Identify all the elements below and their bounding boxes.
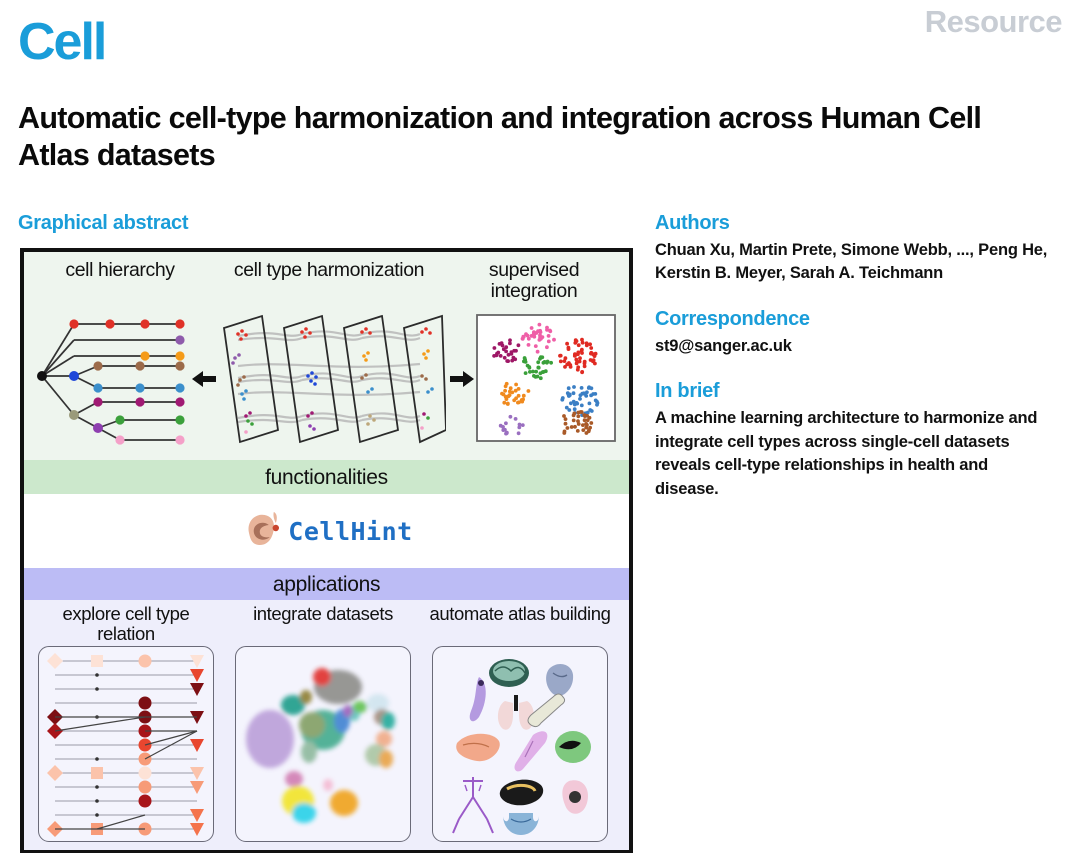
cellhint-blob-icon <box>240 508 286 554</box>
supervised-integration-scatter <box>476 314 616 442</box>
heart-icon <box>546 664 573 696</box>
page-title: Automatic cell-type harmonization and in… <box>18 100 1018 174</box>
liver-icon <box>456 734 500 761</box>
in-brief-block: In brief A machine learning architecture… <box>655 380 1055 501</box>
band-functionalities: functionalities <box>24 460 629 494</box>
bronchi-icon <box>453 777 493 833</box>
panel-title-supervised-integration: supervised integration <box>444 260 624 301</box>
graphical-abstract-figure: cell hierarchy cell type harmonization s… <box>20 248 633 853</box>
article-metadata-column: Authors Chuan Xu, Martin Prete, Simone W… <box>655 212 1055 523</box>
application-title: explore cell type relation <box>32 604 220 644</box>
application-title: automate atlas building <box>426 604 614 644</box>
pipeline-row: cell hierarchy cell type harmonization s… <box>24 252 629 460</box>
umap-clusters-icon <box>235 646 411 842</box>
organ-collage-icon <box>432 646 608 842</box>
panel-title-cell-type-harmonization: cell type harmonization <box>214 260 444 281</box>
applications-row: explore cell type relation integrate dat… <box>24 600 629 850</box>
intestine-icon <box>503 813 539 835</box>
article-type-label: Resource <box>925 4 1062 40</box>
correspondence-heading: Correspondence <box>655 308 1055 331</box>
authors-list: Chuan Xu, Martin Prete, Simone Webb, ...… <box>655 239 1055 286</box>
arrow-right-icon <box>448 368 476 390</box>
correspondence-block: Correspondence st9@sanger.ac.uk <box>655 308 1055 358</box>
correspondence-email[interactable]: st9@sanger.ac.uk <box>655 335 1055 358</box>
authors-block: Authors Chuan Xu, Martin Prete, Simone W… <box>655 212 1055 286</box>
spleen-icon <box>555 731 591 763</box>
umap-svg <box>236 647 411 842</box>
band-applications: applications <box>24 568 629 600</box>
pancreas-icon <box>500 780 543 806</box>
muscle-icon <box>515 731 548 771</box>
application-explore-cell-type-relation: explore cell type relation <box>32 604 220 842</box>
cellhint-wordmark: CellHint <box>288 517 412 546</box>
dot-plot-relation-icon <box>38 646 214 842</box>
application-title: integrate datasets <box>229 604 417 644</box>
cell-type-harmonization-diagram <box>216 310 446 450</box>
bone-icon <box>528 694 565 727</box>
arrow-left-icon <box>190 368 218 390</box>
authors-heading: Authors <box>655 212 1055 235</box>
in-brief-heading: In brief <box>655 380 1055 403</box>
esophagus-icon <box>470 677 486 721</box>
panel-title-cell-hierarchy: cell hierarchy <box>30 260 210 281</box>
application-automate-atlas-building: automate atlas building <box>426 604 614 842</box>
application-integrate-datasets: integrate datasets <box>229 604 417 842</box>
brain-icon <box>489 659 529 687</box>
kidney-icon <box>562 780 588 814</box>
organ-collage-svg <box>433 647 608 842</box>
in-brief-text: A machine learning architecture to harmo… <box>655 407 1055 501</box>
page-root: Cell Resource Automatic cell-type harmon… <box>0 0 1080 868</box>
cellhint-logo-strip: CellHint <box>24 494 629 568</box>
cellhint-logo: CellHint <box>240 508 412 554</box>
journal-logo: Cell <box>18 16 105 68</box>
graphical-abstract-label: Graphical abstract <box>18 212 188 235</box>
cell-hierarchy-diagram <box>28 310 208 450</box>
lungs-icon <box>498 695 534 730</box>
